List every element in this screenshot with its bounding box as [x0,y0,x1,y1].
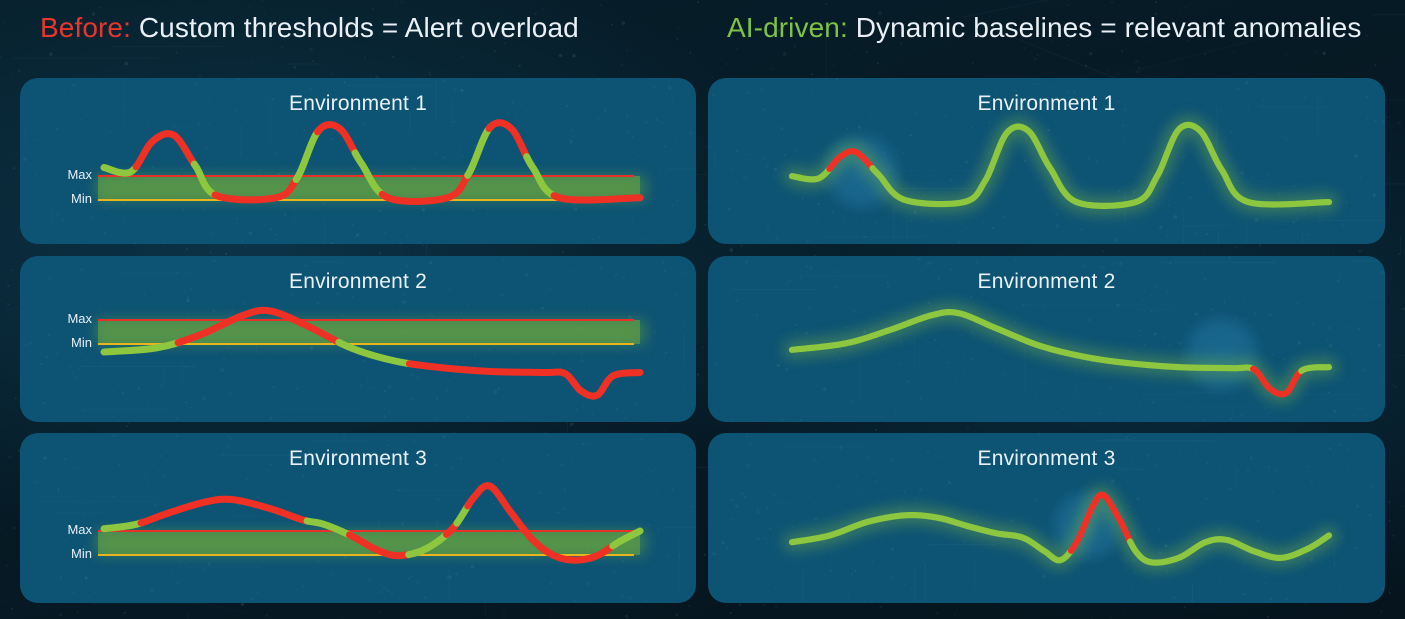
series-segment-normal [872,125,1329,206]
series-segment-normal [296,130,319,180]
max-threshold-label: Max [34,522,92,537]
series-segment-alert [489,123,527,159]
series-segment-normal [1301,367,1329,371]
max-threshold-label: Max [34,167,92,182]
series-segment-alert [318,125,356,155]
panel-title: Environment 1 [708,92,1385,116]
min-threshold-label: Min [34,546,92,561]
before-heading-rest: Custom thresholds = Alert overload [131,12,579,43]
series-segment-normal [104,523,142,529]
series-segment-alert [141,499,308,523]
series-segment-alert [554,196,640,200]
max-threshold-label: Max [34,311,92,326]
ai-driven-column-heading: AI-driven: Dynamic baselines = relevant … [727,8,1361,48]
panel-title: Environment 1 [20,92,696,116]
ai-driven-keyword: AI-driven: [727,12,848,43]
before-keyword: Before: [40,12,131,43]
min-threshold-label: Min [34,335,92,350]
min-threshold-label: Min [34,191,92,206]
chart-panel-left-3[interactable]: MaxMinEnvironment 3 [20,433,696,603]
chart-panel-right-1[interactable]: Environment 1 [708,78,1385,244]
before-column-heading: Before: Custom thresholds = Alert overlo… [40,8,579,48]
series-segment-alert [136,134,196,167]
series-segment-normal [339,342,411,364]
series-segment-normal [104,166,137,174]
ai-driven-heading-rest: Dynamic baselines = relevant anomalies [848,12,1362,43]
slide-canvas: Before: Custom thresholds = Alert overlo… [0,0,1405,619]
anomaly-highlight-circle [1178,311,1265,398]
panel-title: Environment 2 [20,270,696,294]
chart-panel-right-3[interactable]: Environment 3 [708,433,1385,603]
panel-title: Environment 2 [708,270,1385,294]
panel-title: Environment 3 [20,447,696,471]
chart-panel-left-2[interactable]: MaxMinEnvironment 2 [20,256,696,422]
series-segment-normal [468,127,491,176]
panel-title: Environment 3 [708,447,1385,471]
chart-panel-right-2[interactable]: Environment 2 [708,256,1385,422]
series-segment-alert [409,364,640,396]
chart-panel-left-1[interactable]: MaxMinEnvironment 1 [20,78,696,244]
